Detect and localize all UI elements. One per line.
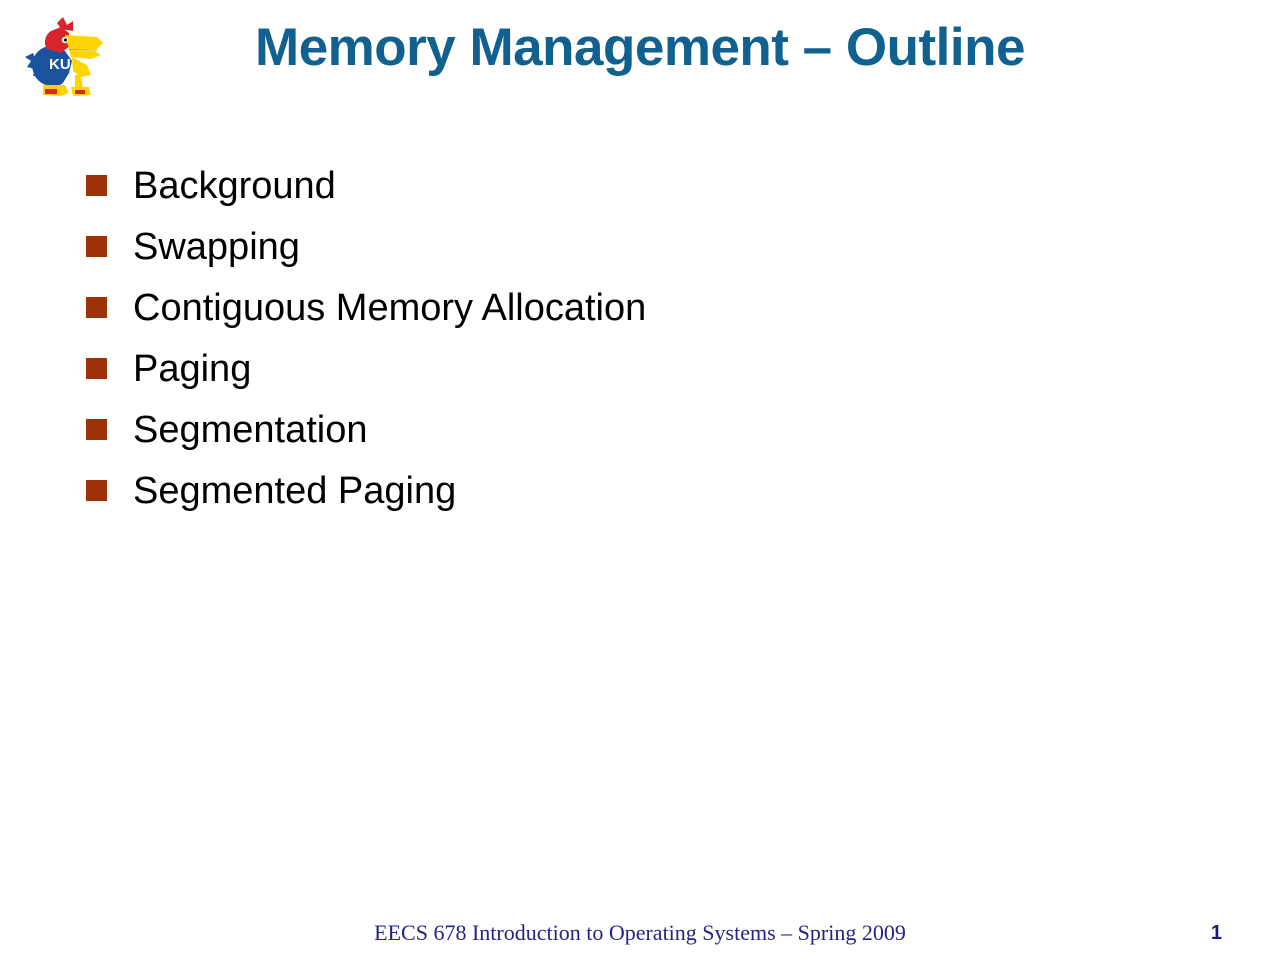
square-bullet-icon — [86, 480, 107, 501]
square-bullet-icon — [86, 175, 107, 196]
bullet-label: Segmented Paging — [133, 468, 456, 514]
bullet-label: Segmentation — [133, 407, 368, 453]
svg-text:KU: KU — [49, 56, 71, 73]
ku-jayhawk-logo-icon: KU — [17, 13, 109, 103]
outline-bullet-list: Background Swapping Contiguous Memory Al… — [86, 163, 1186, 529]
bullet-item-segmented-paging: Segmented Paging — [86, 468, 1186, 529]
bullet-label: Contiguous Memory Allocation — [133, 285, 646, 331]
slide-title: Memory Management – Outline — [140, 16, 1140, 80]
square-bullet-icon — [86, 297, 107, 318]
page-number: 1 — [1211, 922, 1222, 945]
footer-course-text: EECS 678 Introduction to Operating Syste… — [0, 920, 1280, 946]
slide-header: KU Memory Management – Outline — [0, 0, 1280, 118]
square-bullet-icon — [86, 419, 107, 440]
bullet-label: Paging — [133, 346, 251, 392]
slide-footer: EECS 678 Introduction to Operating Syste… — [0, 902, 1280, 960]
square-bullet-icon — [86, 358, 107, 379]
bullet-label: Swapping — [133, 224, 300, 270]
bullet-item-segmentation: Segmentation — [86, 407, 1186, 468]
bullet-item-swapping: Swapping — [86, 224, 1186, 285]
bullet-label: Background — [133, 163, 336, 209]
square-bullet-icon — [86, 236, 107, 257]
presentation-slide: KU Memory Management – Outline Backgroun… — [0, 0, 1280, 960]
bullet-item-contiguous-memory-allocation: Contiguous Memory Allocation — [86, 285, 1186, 346]
bullet-item-paging: Paging — [86, 346, 1186, 407]
bullet-item-background: Background — [86, 163, 1186, 224]
